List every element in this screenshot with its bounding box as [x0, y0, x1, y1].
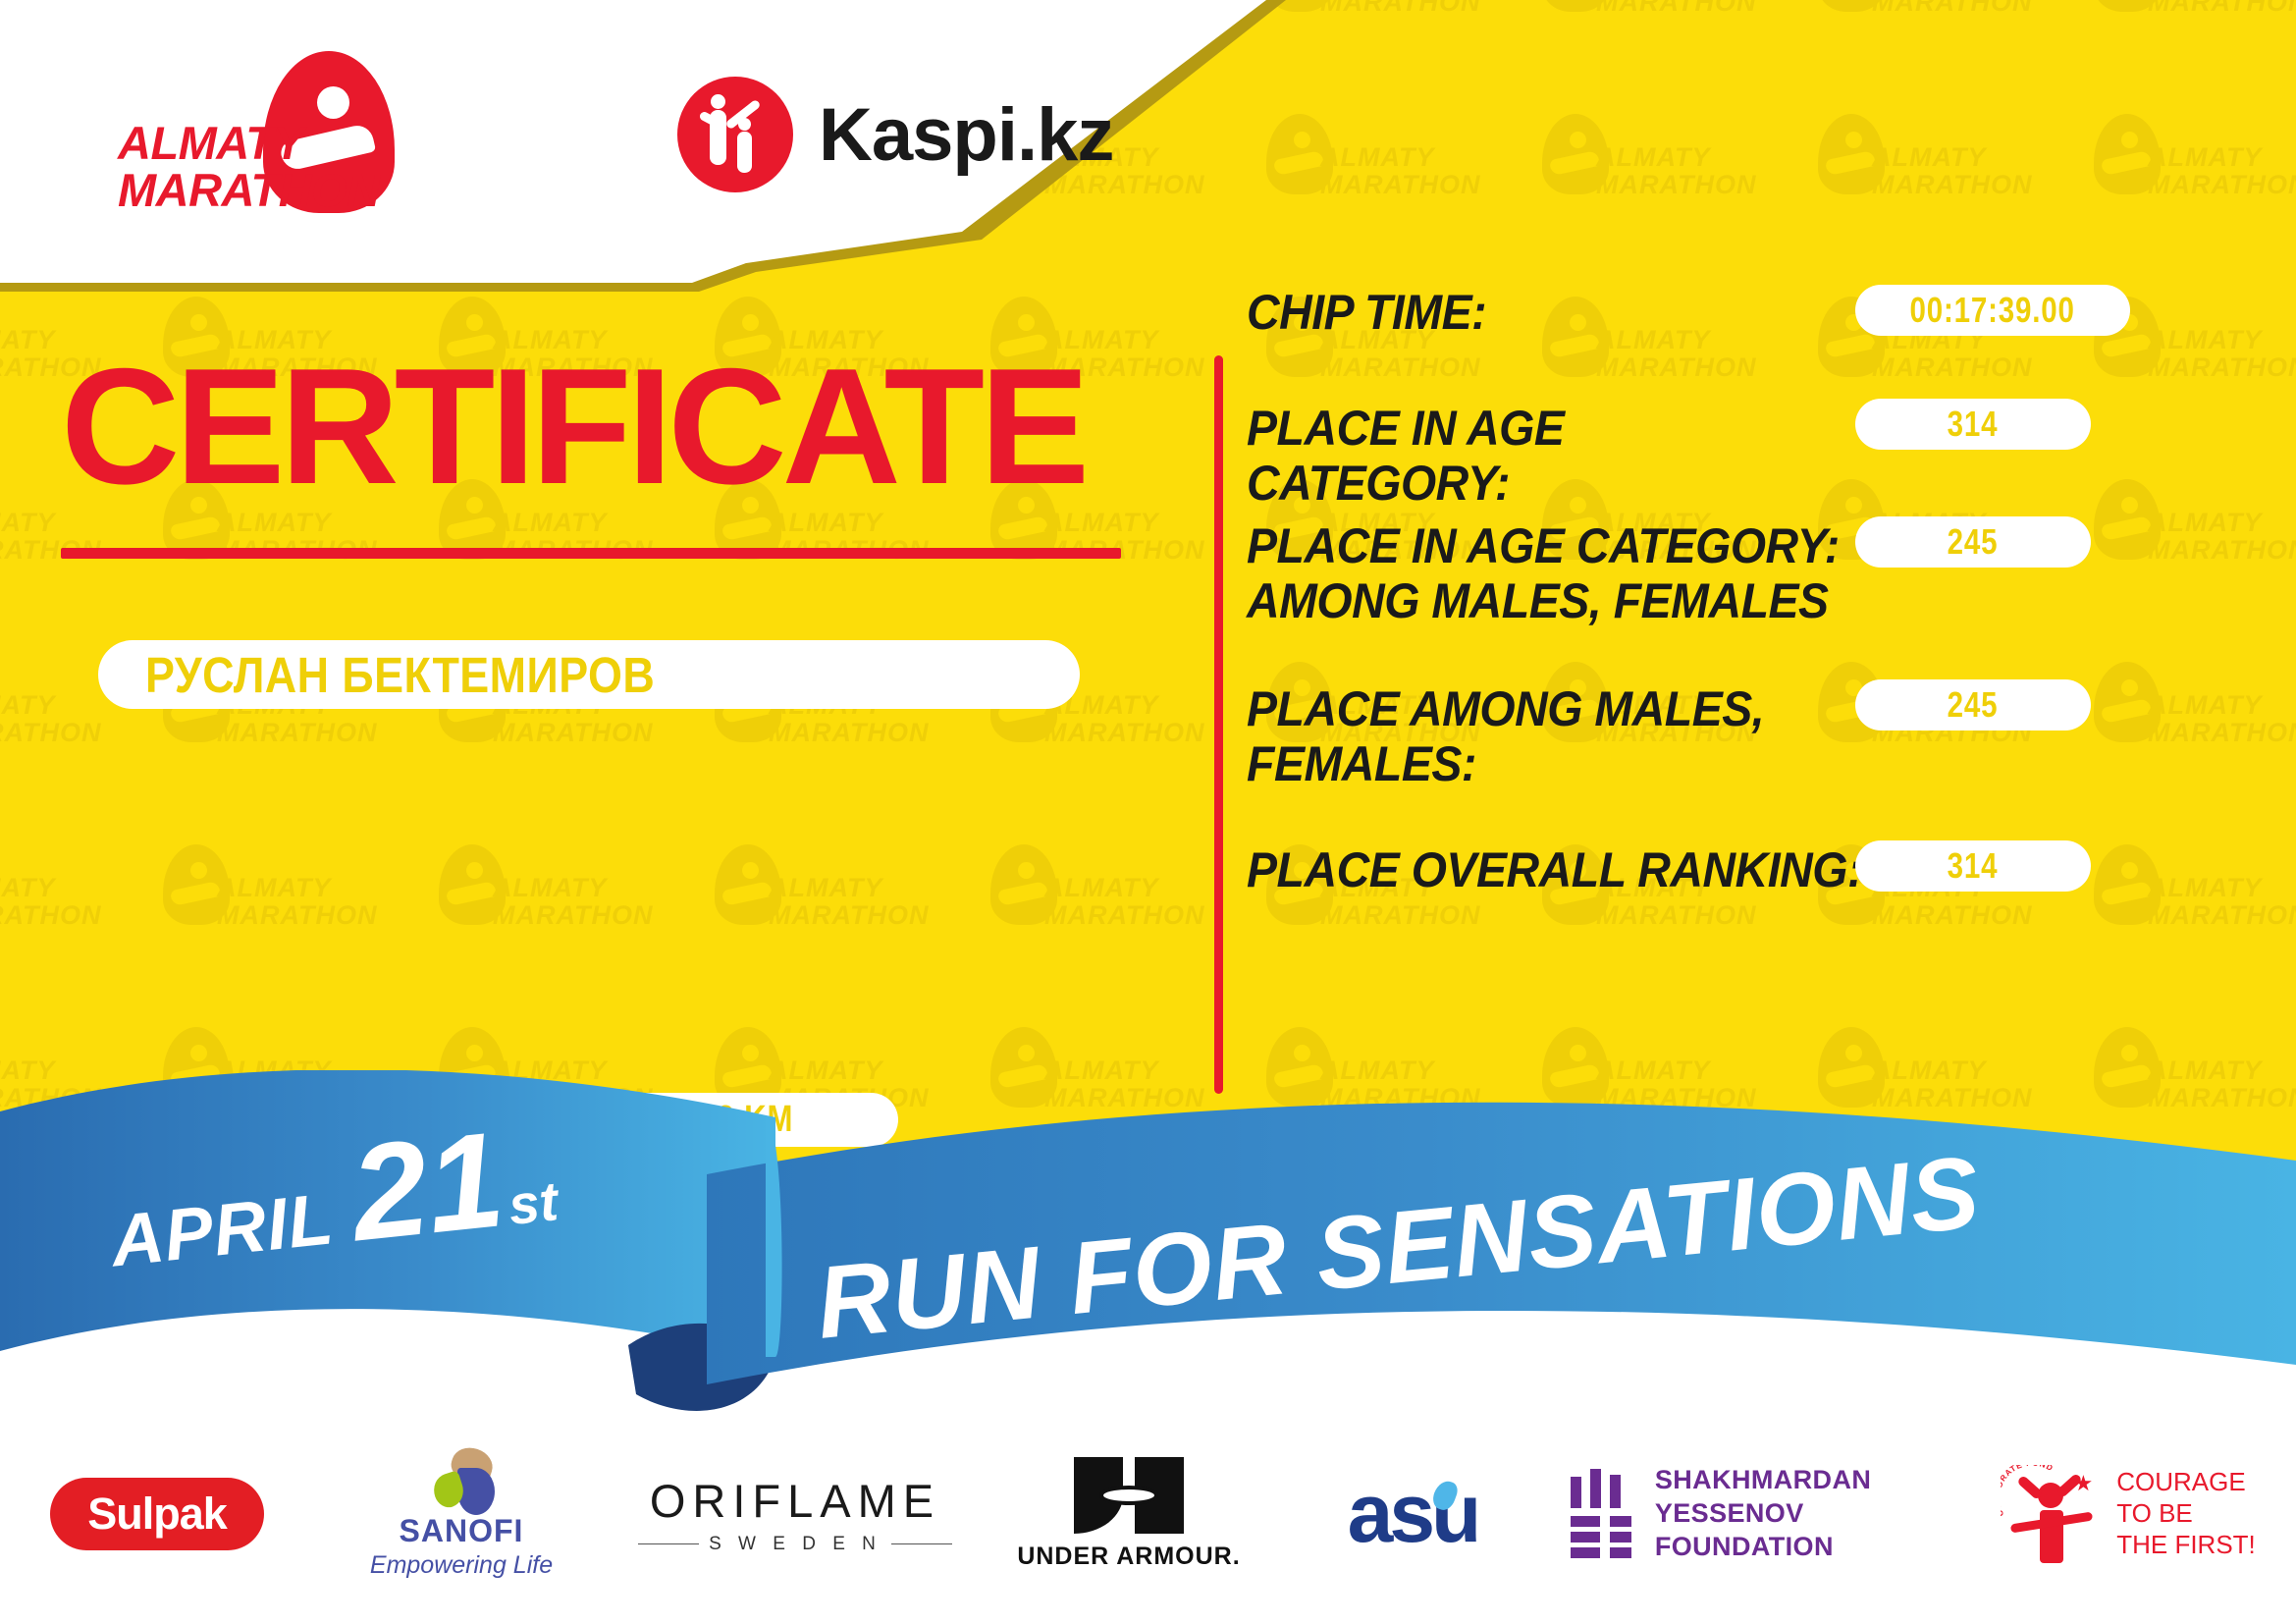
sanofi-wordmark: SANOFI [400, 1513, 524, 1549]
yessenov-mark-icon [1571, 1469, 1629, 1559]
watermark-tile: ALMATYMARATHON [2148, 691, 2296, 747]
watermark-tile: ALMATYMARATHON [2148, 143, 2296, 199]
under-armour-wordmark: UNDER ARMOUR. [1017, 1543, 1240, 1571]
svg-text:CORPORATE FUND: CORPORATE FUND [2001, 1465, 2056, 1518]
asu-wordmark: asu [1348, 1477, 1478, 1551]
place-age-gender-label-line2: AMONG MALES, FEMALES [1247, 573, 1849, 628]
title-divider [61, 548, 1121, 559]
certificate-page: ALMATYMARATHONALMATYMARATHONALMATYMARATH… [0, 0, 2296, 1624]
place-age-gender-value-pill: 245 [1855, 516, 2091, 568]
yessenov-wordmark: SHAKHMARDAN YESSENOV FOUNDATION [1655, 1464, 1983, 1563]
column-divider [1214, 355, 1223, 1094]
oriflame-logo: ORIFLAME S W E D E N [638, 1474, 952, 1555]
almaty-marathon-wordmark: ALMATY MARATHON [118, 120, 380, 214]
courage-fund-logo: ★ CORPORATE FUND COURAGE TO BE THE FIRST… [2004, 1461, 2256, 1567]
chip-time-label: CHIP TIME: [1247, 285, 1758, 340]
place-gender-label-line1: PLACE AMONG MALES, [1247, 681, 1849, 736]
watermark-tile: ALMATYMARATHON [1596, 143, 1891, 199]
overall-rank-value: 314 [1948, 845, 1999, 887]
chip-time-value-pill: 00:17:39.00 [1855, 285, 2130, 336]
watermark-tile: ALMATYMARATHON [2148, 509, 2296, 565]
overall-rank-label: PLACE OVERALL RANKING: [1247, 842, 1867, 897]
oriflame-tagline: S W E D E N [709, 1534, 881, 1555]
yessenov-name-line1: SHAKHMARDAN YESSENOV [1655, 1464, 1983, 1531]
result-row-place-age-gender: PLACE IN AGE CATEGORY: AMONG MALES, FEMA… [1247, 518, 1895, 628]
asu-logo: asu [1348, 1477, 1500, 1551]
oriflame-rule-right [891, 1543, 952, 1544]
almaty-marathon-line2: MARATHON [118, 167, 380, 214]
watermark-tile: ALMATYMARATHON [493, 874, 787, 930]
sponsor-asu: asu [1276, 1440, 1571, 1588]
place-age-label: PLACE IN AGE CATEGORY: [1247, 401, 1813, 511]
result-row-overall: PLACE OVERALL RANKING: [1247, 842, 1914, 897]
oriflame-sub: S W E D E N [638, 1534, 952, 1555]
overall-rank-value-pill: 314 [1855, 840, 2091, 892]
watermark-tile: ALMATYMARATHON [769, 874, 1063, 930]
star-icon: ★ [2073, 1471, 2093, 1496]
event-month: APRIL [107, 1176, 338, 1282]
almaty-marathon-logo: ALMATY MARATHON [118, 59, 452, 206]
corporate-fund-arc-text: CORPORATE FUND [2001, 1465, 2073, 1538]
sanofi-mark-icon [422, 1448, 501, 1511]
place-age-gender-value: 245 [1948, 521, 1999, 563]
participant-name: РУСЛАН БЕКТЕМИРОВ [145, 646, 655, 704]
event-day: 21 [346, 1111, 509, 1262]
sponsor-courage-fund: ★ CORPORATE FUND COURAGE TO BE THE FIRST… [1983, 1440, 2277, 1588]
watermark-tile: ALMATYMARATHON [1320, 0, 1615, 17]
result-row-chip-time: CHIP TIME: [1247, 285, 1796, 340]
sponsor-bar: Sulpak SANOFI Empowering Life ORIFLAME S… [0, 1404, 2296, 1624]
sponsor-under-armour: UNDER ARMOUR. [982, 1440, 1276, 1588]
watermark-tile: ALMATYMARATHON [2148, 0, 2296, 17]
place-age-gender-label-line1: PLACE IN AGE CATEGORY: [1247, 518, 1849, 573]
watermark-tile: ALMATYMARATHON [1872, 0, 2166, 17]
watermark-tile: ALMATYMARATHON [2148, 874, 2296, 930]
courage-runner-icon: ★ CORPORATE FUND [2004, 1461, 2101, 1567]
page-title: CERTIFICATE [61, 344, 1085, 509]
sulpak-logo: Sulpak [50, 1478, 264, 1550]
under-armour-logo: UNDER ARMOUR. [1017, 1457, 1240, 1571]
courage-line3: THE FIRST! [2116, 1530, 2256, 1561]
yessenov-name-line2: FOUNDATION [1655, 1531, 1983, 1564]
oriflame-rule-left [638, 1543, 699, 1544]
kaspi-wordmark: Kaspi.kz [819, 92, 1113, 178]
courage-line1: COURAGE [2116, 1467, 2256, 1498]
kaspi-figures-icon [677, 77, 793, 192]
result-row-place-age: PLACE IN AGE CATEGORY: [1247, 401, 1855, 511]
watermark-tile: ALMATYMARATHON [217, 874, 511, 930]
sponsor-sanofi: SANOFI Empowering Life [314, 1440, 609, 1588]
sanofi-logo: SANOFI Empowering Life [370, 1448, 553, 1580]
sponsor-yessenov: SHAKHMARDAN YESSENOV FOUNDATION [1571, 1440, 1983, 1588]
almaty-marathon-line1: ALMATY [118, 120, 380, 167]
participant-name-field: РУСЛАН БЕКТЕМИРОВ [98, 640, 1080, 709]
courage-line2: TO BE [2116, 1498, 2256, 1530]
watermark-tile: ALMATYMARATHON [1320, 143, 1615, 199]
sanofi-tagline: Empowering Life [370, 1551, 553, 1580]
sponsor-sulpak: Sulpak [0, 1440, 314, 1588]
watermark-tile: ALMATYMARATHON [1596, 0, 1891, 17]
header-content: ALMATY MARATHON Kaspi.kz [0, 0, 1266, 285]
watermark-tile: ALMATYMARATHON [1872, 143, 2166, 199]
place-age-value-pill: 314 [1855, 399, 2091, 450]
watermark-tile: ALMATYMARATHON [2148, 326, 2296, 382]
courage-fund-tagline: COURAGE TO BE THE FIRST! [2116, 1467, 2256, 1560]
under-armour-mark-icon [1074, 1457, 1184, 1534]
place-age-value: 314 [1948, 404, 1999, 445]
place-gender-value: 245 [1948, 684, 1999, 726]
sponsor-oriflame: ORIFLAME S W E D E N [609, 1440, 982, 1588]
oriflame-wordmark: ORIFLAME [650, 1474, 940, 1528]
place-gender-label-line2: FEMALES: [1247, 736, 1849, 791]
chip-time-value: 00:17:39.00 [1910, 290, 2075, 331]
place-gender-value-pill: 245 [1855, 679, 2091, 731]
result-row-place-gender: PLACE AMONG MALES, FEMALES: [1247, 681, 1895, 791]
yessenov-logo: SHAKHMARDAN YESSENOV FOUNDATION [1571, 1464, 1983, 1563]
event-day-suffix: st [506, 1168, 561, 1237]
kaspi-logo: Kaspi.kz [677, 77, 1113, 192]
watermark-tile: ALMATYMARATHON [0, 874, 236, 930]
